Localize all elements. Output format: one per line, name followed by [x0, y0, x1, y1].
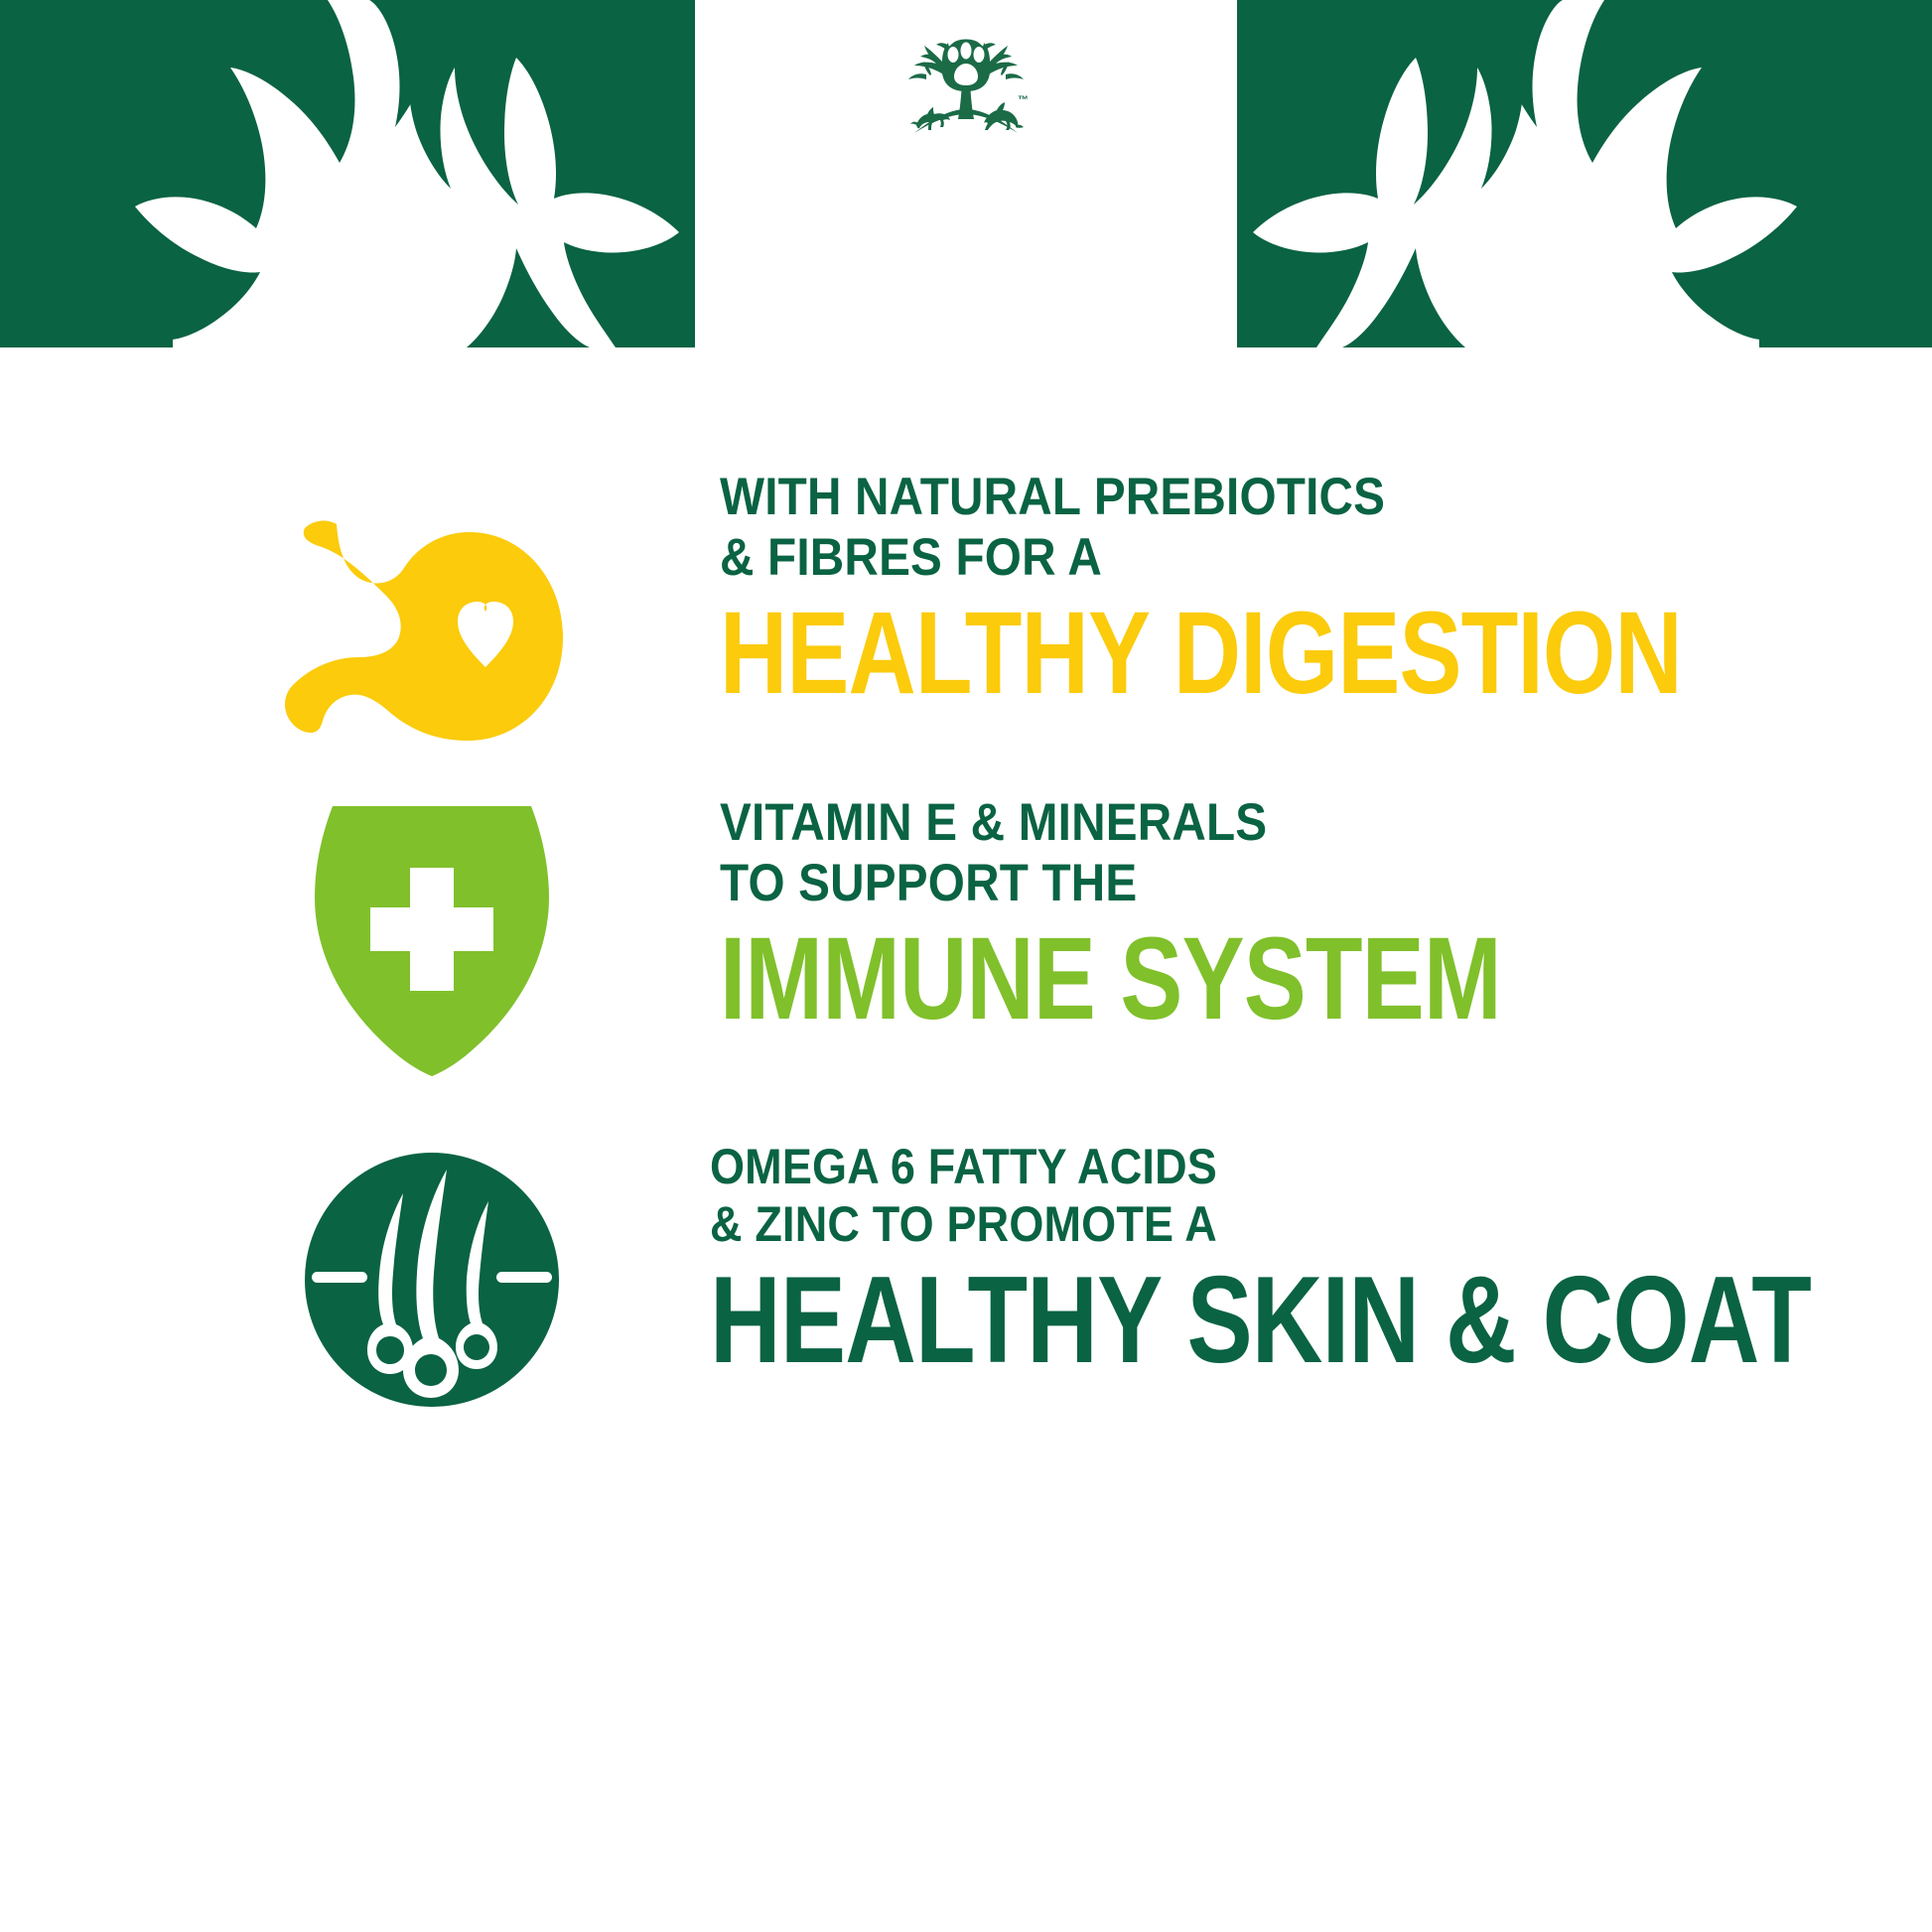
shield-plus-icon [278, 792, 586, 1080]
benefit-lead-immune-system: VITAMIN E & MINERALS TO SUPPORT THE [720, 792, 1811, 914]
benefit-text-healthy-skin-coat: OMEGA 6 FATTY ACIDS & ZINC TO PROMOTE A … [586, 1138, 1932, 1382]
benefit-item-immune-system: VITAMIN E & MINERALS TO SUPPORT THE IMMU… [0, 792, 1932, 1080]
benefit-lead-healthy-skin-coat: OMEGA 6 FATTY ACIDS & ZINC TO PROMOTE A [710, 1138, 1932, 1253]
tree-paw-cat-dog-logo [908, 40, 1024, 134]
benefit-text-healthy-digestion: WITH NATURAL PREBIOTICS & FIBRES FOR A H… [586, 467, 1932, 712]
stomach-heart-icon [278, 467, 586, 755]
benefit-headline-healthy-skin-coat: HEALTHY SKIN & COAT [710, 1259, 1811, 1382]
benefit-text-immune-system: VITAMIN E & MINERALS TO SUPPORT THE IMMU… [586, 792, 1932, 1037]
benefits-list: WITH NATURAL PREBIOTICS & FIBRES FOR A H… [0, 467, 1932, 1440]
benefit-headline-healthy-digestion: HEALTHY DIGESTION [720, 595, 1690, 712]
corner-foliage-right [1237, 0, 1932, 347]
corner-foliage-left [0, 0, 695, 347]
trademark-symbol: ™ [1018, 94, 1029, 106]
benefit-headline-immune-system: IMMUNE SYSTEM [720, 920, 1690, 1037]
brand-logo: ™ [897, 30, 1035, 141]
benefit-item-healthy-skin-coat: OMEGA 6 FATTY ACIDS & ZINC TO PROMOTE A … [0, 1138, 1932, 1410]
hair-follicle-circle-icon [278, 1138, 586, 1410]
benefit-item-healthy-digestion: WITH NATURAL PREBIOTICS & FIBRES FOR A H… [0, 467, 1932, 755]
benefit-lead-healthy-digestion: WITH NATURAL PREBIOTICS & FIBRES FOR A [720, 467, 1811, 589]
